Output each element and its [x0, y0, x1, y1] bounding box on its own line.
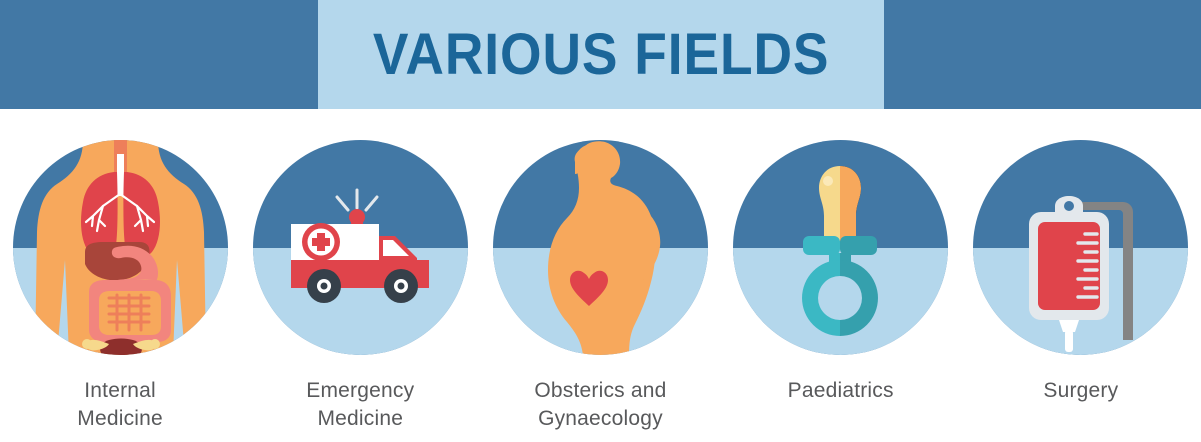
fields-list: Internal Medicine	[0, 140, 1201, 432]
field-label: Surgery	[1043, 377, 1118, 405]
field-label-line1: Obsterics and	[534, 379, 666, 402]
field-label-line1: Surgery	[1043, 379, 1118, 402]
field-label: Emergency Medicine	[306, 377, 414, 432]
iv-blood-bag-icon	[973, 140, 1188, 355]
page-title: VARIOUS FIELDS	[373, 26, 830, 84]
field-card-paediatrics[interactable]: Paediatrics	[721, 140, 961, 432]
field-card-obstetrics-gynaecology[interactable]: Obsterics and Gynaecology	[480, 140, 720, 432]
field-label-line1: Emergency	[306, 379, 414, 402]
field-label: Internal Medicine	[77, 377, 163, 432]
field-label-line2: Medicine	[77, 405, 163, 433]
page-header: VARIOUS FIELDS	[0, 0, 1201, 109]
internal-organs-icon	[13, 140, 228, 355]
ambulance-icon	[253, 140, 468, 355]
field-label-line1: Internal	[84, 379, 156, 402]
pregnant-woman-icon	[493, 140, 708, 355]
field-label-line2: Medicine	[306, 405, 414, 433]
field-label-line2: Gynaecology	[534, 405, 666, 433]
field-label: Obsterics and Gynaecology	[534, 377, 666, 432]
field-label-line1: Paediatrics	[788, 379, 894, 402]
field-label: Paediatrics	[788, 377, 894, 405]
field-card-internal-medicine[interactable]: Internal Medicine	[0, 140, 240, 432]
field-card-emergency-medicine[interactable]: Emergency Medicine	[240, 140, 480, 432]
pacifier-icon	[733, 140, 948, 355]
header-title-panel: VARIOUS FIELDS	[318, 0, 884, 109]
field-card-surgery[interactable]: Surgery	[961, 140, 1201, 432]
